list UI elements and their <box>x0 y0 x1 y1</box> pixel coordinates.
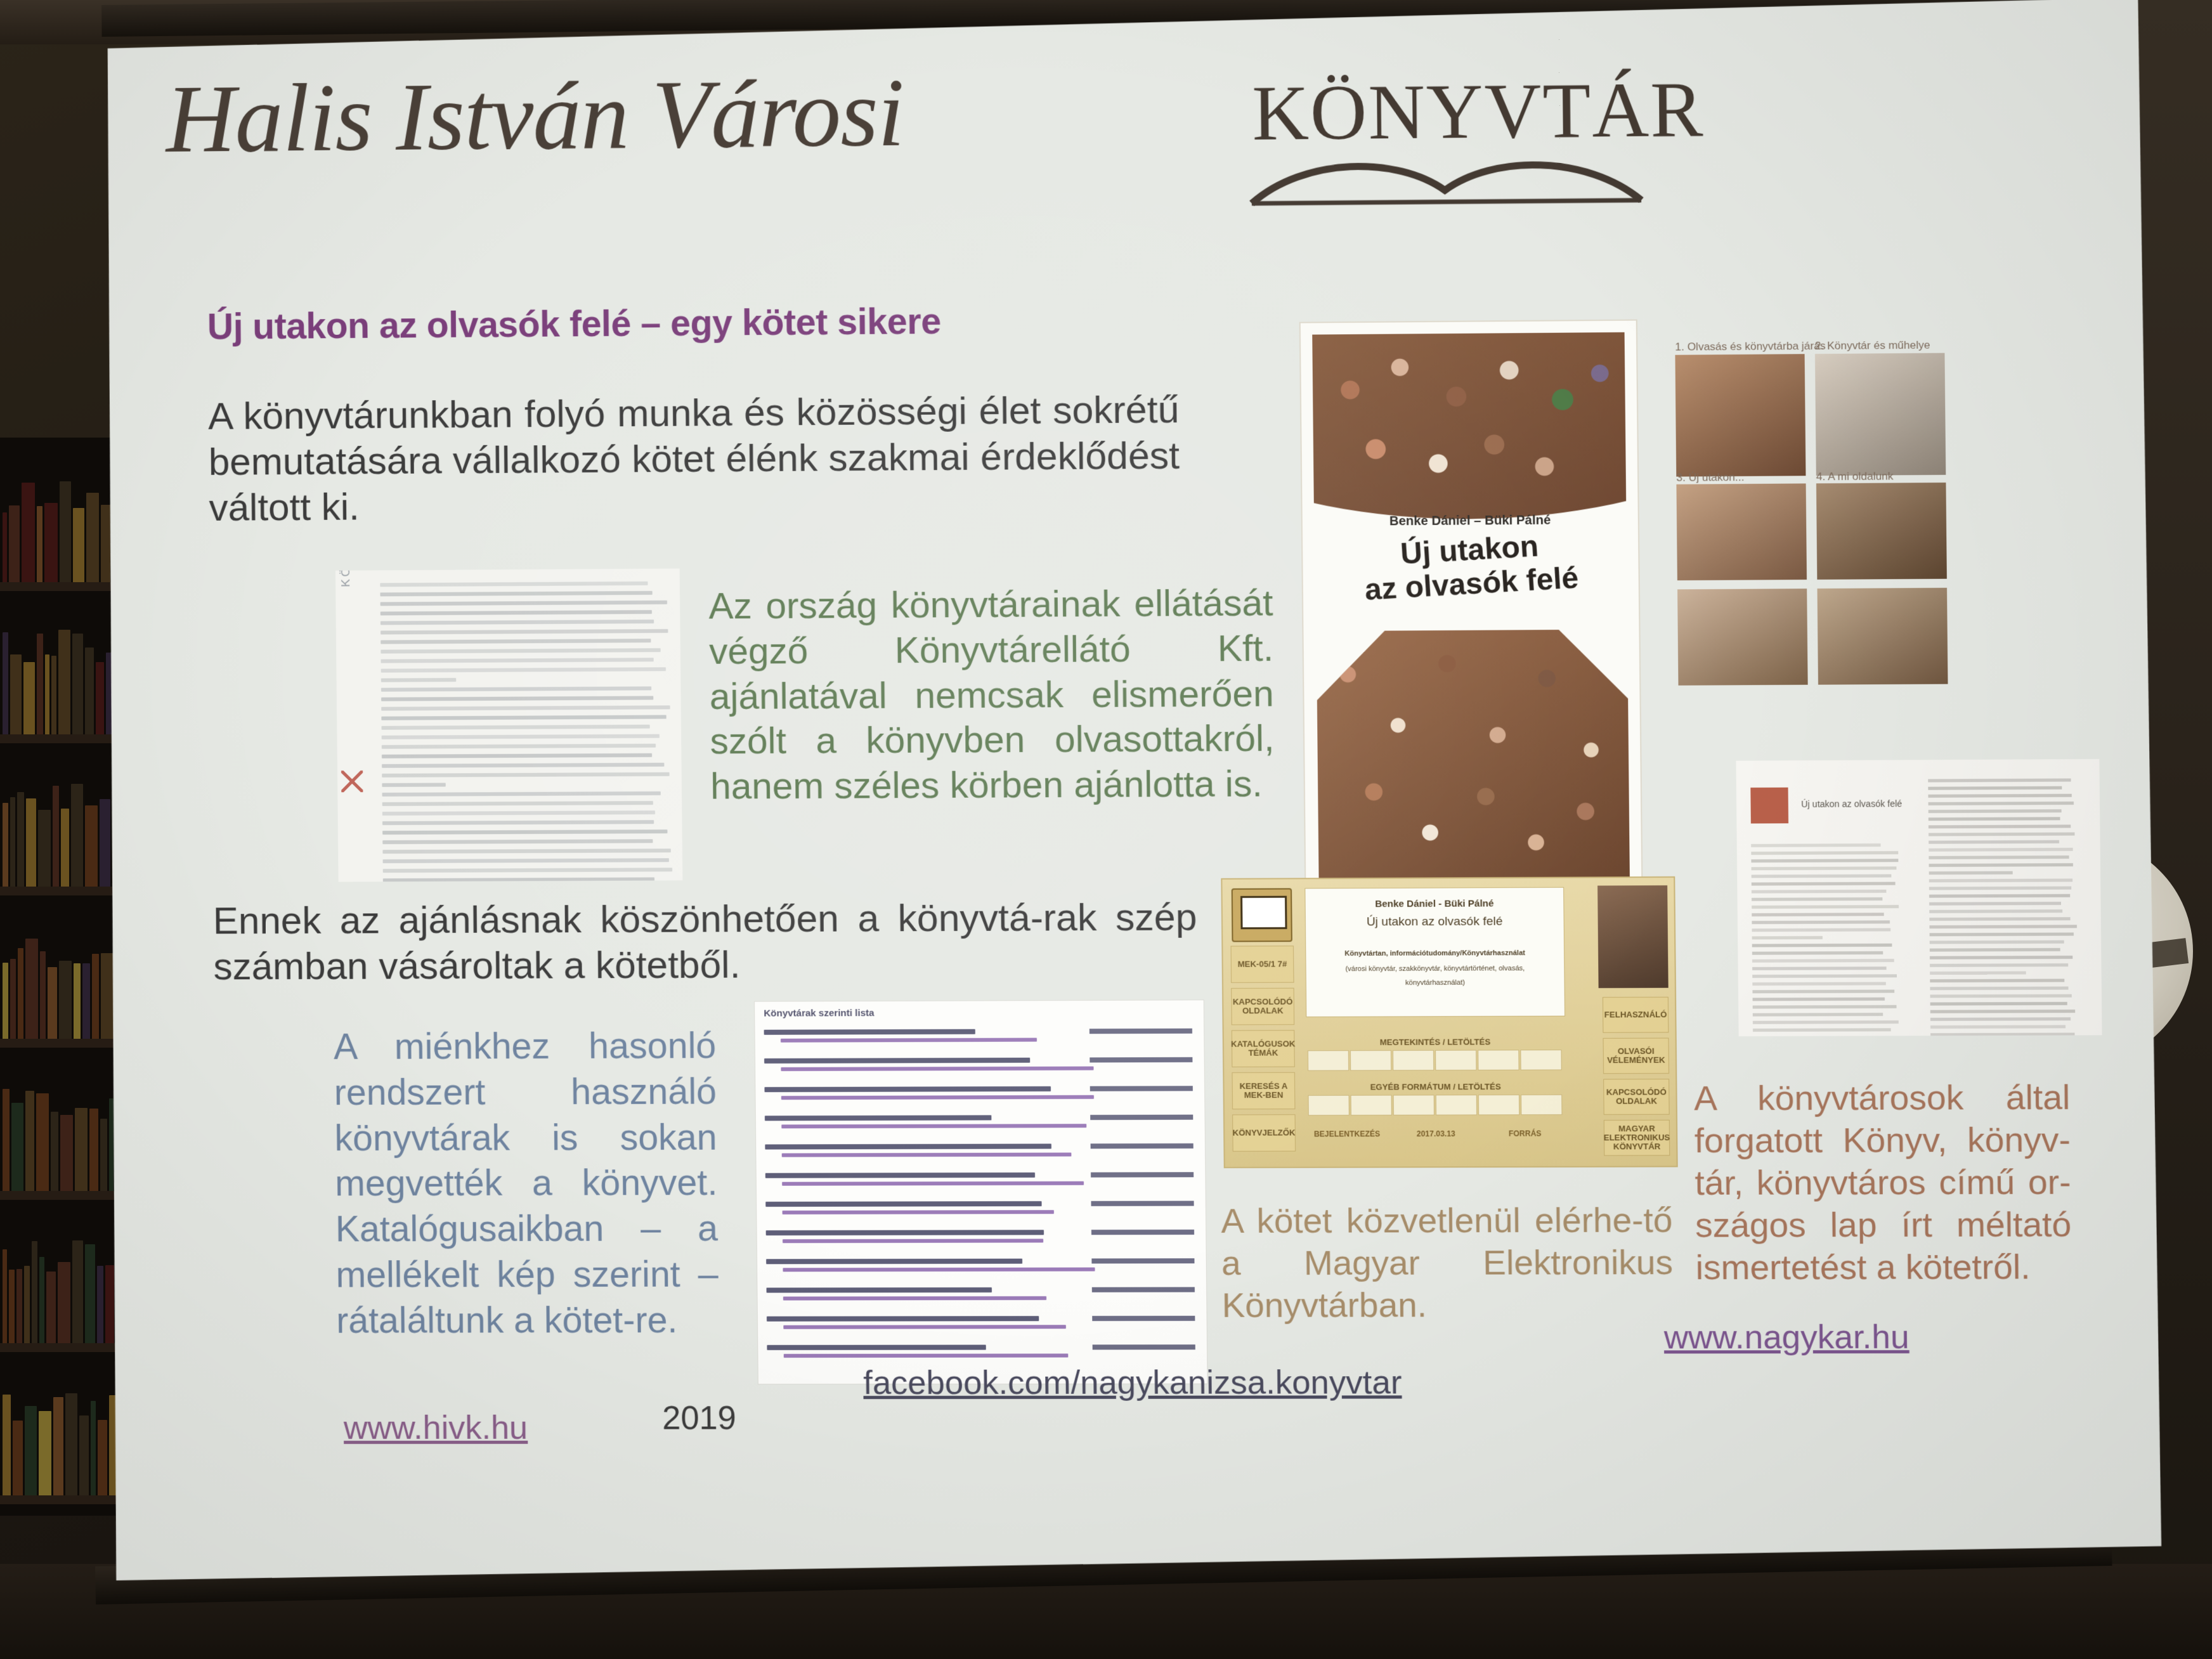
book-cover-image: Benke Dániel – Büki Pálné Új utakon az o… <box>1299 320 1643 894</box>
text-line <box>380 591 652 597</box>
mek-subject-1: Könyvtártan, információtudomány/Könyvtár… <box>1306 949 1564 958</box>
book-spine <box>23 662 35 734</box>
article-text-line <box>1753 1013 1883 1017</box>
mek-nav-button[interactable]: FELHASZNÁLÓ <box>1603 997 1669 1033</box>
article-text-line <box>1929 917 2071 921</box>
article-text-line <box>1752 897 1882 901</box>
book-spine <box>53 1397 63 1495</box>
catalog-row[interactable] <box>766 1230 1197 1243</box>
article-text-line <box>1753 1020 1899 1024</box>
article-text-line <box>1929 840 2059 844</box>
text-line <box>382 829 668 835</box>
book-spine <box>32 1241 38 1343</box>
mek-download-cell[interactable] <box>1521 1095 1562 1115</box>
catalog-entry-link[interactable] <box>783 1210 1055 1214</box>
kello-logo-icon <box>341 771 363 792</box>
article-text-line <box>1929 809 2062 813</box>
paragraph-purchases: Ennek az ajánlásnak köszönhetően a könyv… <box>212 894 1197 989</box>
article-text-line <box>1929 871 2013 875</box>
text-line <box>381 629 668 635</box>
text-line <box>381 715 667 720</box>
catalog-entry-meta <box>1091 1201 1194 1206</box>
article-column-right <box>1928 778 2081 1036</box>
text-line <box>381 658 653 663</box>
paragraph-kello: Az ország könyvtárainak ellátását végző … <box>708 581 1275 809</box>
text-line <box>383 877 654 882</box>
mek-footer-item[interactable]: 2017.03.13 <box>1397 1129 1474 1138</box>
catalog-entry-link[interactable] <box>781 1124 1086 1128</box>
library-wordmark: KÖNYVTÁR <box>1252 65 1705 159</box>
text-line <box>382 810 655 816</box>
article-text-line <box>1752 874 1892 878</box>
catalog-entry-title <box>764 1029 975 1035</box>
book-spine <box>51 1112 58 1191</box>
book-spine <box>45 654 49 734</box>
catalog-entry-title <box>765 1201 1042 1207</box>
text-line <box>382 783 445 786</box>
book-spine <box>74 963 81 1039</box>
mek-download-cell[interactable] <box>1351 1095 1392 1116</box>
catalog-entry-link[interactable] <box>783 1296 1047 1301</box>
mek-download-cell[interactable] <box>1308 1050 1349 1070</box>
book-spine <box>44 503 58 582</box>
mek-subject-3: könyvtárhasználat) <box>1306 979 1565 987</box>
catalog-entry-meta <box>1092 1287 1195 1292</box>
book-spine <box>73 508 85 582</box>
book-spine <box>60 1115 74 1191</box>
catalog-entry-meta <box>1090 1115 1193 1120</box>
presentation-slide: Halis István Városi KÖNYVTÁR Új utakon a… <box>95 0 2166 1587</box>
book-spine <box>3 512 7 582</box>
book-spine <box>98 1420 107 1495</box>
book-spine <box>51 656 56 734</box>
article-text-line <box>1929 887 2071 890</box>
catalog-row[interactable] <box>764 1057 1195 1071</box>
article-text-line <box>1930 987 2068 991</box>
catalog-row[interactable] <box>767 1287 1198 1300</box>
book-spine <box>40 951 46 1039</box>
article-text-line <box>1752 936 1823 939</box>
catalog-row[interactable] <box>767 1316 1198 1329</box>
book-spine <box>22 483 35 582</box>
collage-photo <box>1675 354 1805 476</box>
article-text-line <box>1929 909 2062 913</box>
catalog-row[interactable] <box>765 1172 1197 1186</box>
book-spine <box>10 959 16 1039</box>
catalog-entry-meta <box>1090 1086 1193 1091</box>
catalog-entry-meta <box>1092 1316 1195 1321</box>
catalog-entry-meta <box>1090 1057 1192 1063</box>
article-text-line <box>1751 851 1898 855</box>
article-text-line <box>1752 905 1899 909</box>
journal-article-scan: Új utakon az olvasók felé <box>1736 759 2102 1036</box>
footer-year: 2019 <box>662 1399 736 1437</box>
mek-cover-thumbnail <box>1597 885 1669 988</box>
collage-photo <box>1815 353 1946 476</box>
book-spine <box>39 1411 51 1495</box>
slide-subtitle: Új utakon az olvasók felé – egy kötet si… <box>207 297 1294 348</box>
article-text-line <box>1751 859 1898 862</box>
article-text-line <box>1930 940 2064 944</box>
article-text-line <box>1930 956 2073 960</box>
text-line <box>382 744 656 749</box>
text-line <box>382 801 654 806</box>
book-spine <box>3 1249 7 1343</box>
footer-link-nagykar[interactable]: www.nagykar.hu <box>1664 1318 1909 1356</box>
text-line <box>380 582 647 587</box>
text-line <box>382 820 654 825</box>
catalog-entry-title <box>766 1230 1044 1235</box>
text-line <box>381 620 654 625</box>
paragraph-intro: A könyvtárunkban folyó munka és közösség… <box>208 387 1180 531</box>
catalog-entry-title <box>765 1115 992 1121</box>
mek-download-cell[interactable] <box>1435 1050 1476 1070</box>
text-line <box>381 686 651 691</box>
article-text-line <box>1930 1032 2075 1036</box>
article-text-line <box>1752 944 1892 947</box>
article-text-line <box>1752 990 1894 994</box>
book-spine <box>39 1257 44 1343</box>
catalog-entry-title <box>764 1086 1050 1092</box>
projection-screen: Halis István Városi KÖNYVTÁR Új utakon a… <box>95 0 2166 1594</box>
book-spine <box>82 963 90 1039</box>
article-text-line <box>1929 848 2072 852</box>
mek-book-icon <box>1232 888 1292 942</box>
article-text-line <box>1929 817 2060 821</box>
footer-link-facebook[interactable]: facebook.com/nagykanizsa.konyvtar <box>863 1363 1402 1402</box>
mek-download-cell[interactable] <box>1350 1050 1391 1070</box>
collage-photo <box>1676 483 1807 580</box>
text-line <box>382 849 670 854</box>
text-line <box>381 705 670 710</box>
article-logo-icon <box>1750 788 1788 824</box>
article-text-line <box>1752 920 1889 924</box>
article-text-line <box>1752 966 1887 970</box>
collage-label: 4. A mi oldalunk <box>1816 470 1894 483</box>
article-text-line <box>1930 1002 2067 1006</box>
article-text-line <box>1930 963 2068 967</box>
catalog-entry-link[interactable] <box>781 1067 1093 1071</box>
text-line <box>382 839 653 844</box>
book-spine <box>71 784 83 887</box>
catalog-entry-link[interactable] <box>784 1353 1068 1358</box>
catalog-entry-meta <box>1091 1172 1194 1177</box>
text-line <box>381 678 457 682</box>
catalog-entry-title <box>767 1287 992 1293</box>
catalog-entry-title <box>765 1143 1051 1149</box>
article-text-line <box>1751 843 1880 847</box>
book-spine <box>46 1272 56 1343</box>
catalog-entry-link[interactable] <box>783 1325 1065 1329</box>
collage-label: 2. Könyvtár és műhelye <box>1815 339 1930 353</box>
text-line <box>381 667 666 672</box>
article-text-line <box>1929 824 2071 828</box>
catalog-entry-meta <box>1091 1143 1194 1148</box>
catalog-entry-link[interactable] <box>783 1268 1095 1272</box>
text-line <box>382 753 652 758</box>
text-line <box>381 610 653 615</box>
article-text-line <box>1929 878 2073 882</box>
book-spine <box>58 1262 70 1343</box>
book-spine <box>61 809 69 887</box>
mek-nav-button[interactable]: OLVASÓI VÉLEMÉNYEK <box>1603 1038 1669 1074</box>
article-text-line <box>1930 1010 2075 1013</box>
collage-photo <box>1818 588 1948 685</box>
text-line <box>381 601 667 606</box>
collage-label: 3. Új utakon... <box>1676 471 1744 485</box>
photo-collage: 1. Olvasás és könyvtárba járás2. Könyvtá… <box>1667 335 2072 697</box>
book-spine <box>36 1093 49 1191</box>
open-book-logo <box>1246 150 1646 209</box>
book-spine <box>18 948 23 1039</box>
article-text-line <box>1930 932 2074 936</box>
book-spine <box>58 630 70 734</box>
book-spine <box>92 954 99 1039</box>
book-cover-photo-bottom <box>1317 621 1630 879</box>
text-line <box>381 725 649 730</box>
book-spine <box>65 1393 77 1496</box>
paragraph-catalog: A miénkhez hasonló rendszert használó kö… <box>334 1024 719 1344</box>
book-spine <box>13 1421 23 1495</box>
article-text-line <box>1930 994 2072 998</box>
mek-download-cell[interactable] <box>1478 1050 1519 1070</box>
book-spine <box>24 1266 29 1343</box>
article-text-line <box>1752 866 1897 870</box>
article-text-line <box>1752 959 1894 963</box>
catalog-list-screenshot: Könyvtárak szerinti lista <box>754 999 1208 1384</box>
catalog-entry-title <box>764 1058 1030 1064</box>
catalog-list-header: Könyvtárak szerinti lista <box>764 1008 874 1019</box>
text-line <box>382 734 660 739</box>
article-text-line <box>1929 894 2071 898</box>
kello-body-text <box>380 582 673 882</box>
catalog-row[interactable] <box>765 1143 1196 1157</box>
collage-label: 1. Olvasás és könyvtárba járás <box>1675 340 1825 354</box>
text-line <box>383 858 669 863</box>
mek-website-screenshot: Benke Dániel - Büki Pálné Új utakon az o… <box>1221 876 1677 1168</box>
book-spine <box>59 961 72 1039</box>
book-spine <box>37 634 44 734</box>
text-line <box>381 648 661 653</box>
mek-nav-button[interactable]: KAPCSOLÓDÓ OLDALAK <box>1603 1079 1670 1115</box>
article-column-left <box>1751 843 1903 1036</box>
book-spine <box>86 493 98 582</box>
book-spine <box>85 647 93 734</box>
mek-footer-item[interactable]: BEJELENTKEZÉS <box>1308 1129 1386 1138</box>
article-text-line <box>1753 1028 1890 1032</box>
book-spine <box>38 810 51 887</box>
catalog-entry-title <box>767 1344 986 1350</box>
kello-document-thumbnail: KÖNYVTÁRELLÁTÓ <box>335 568 682 882</box>
mek-download-tables: MEGTEKINTÉS / LETÖLTÉSEGYÉB FORMÁTUM / L… <box>1222 878 1674 880</box>
article-text-line <box>1930 971 2026 975</box>
mek-right-nav: FELHASZNÁLÓOLVASÓI VÉLEMÉNYEKKAPCSOLÓDÓ … <box>1222 878 1674 880</box>
catalog-row[interactable] <box>765 1201 1197 1214</box>
mek-nav-button[interactable]: KATALÓGUSOK TÉMÁK <box>1232 1030 1295 1067</box>
book-spine <box>72 1240 83 1343</box>
mek-download-cell[interactable] <box>1308 1095 1350 1116</box>
book-spine <box>3 1089 10 1191</box>
page-title: Halis István Városi <box>166 57 904 174</box>
book-spine <box>37 506 43 582</box>
catalog-rows <box>755 1000 1204 1001</box>
article-text-line <box>1752 882 1896 886</box>
book-spine <box>25 1406 37 1495</box>
mek-download-cell[interactable] <box>1436 1095 1477 1115</box>
book-spine <box>48 967 57 1039</box>
book-spine <box>53 786 59 887</box>
collage-photo <box>1677 589 1808 686</box>
article-text-line <box>1930 979 2064 982</box>
catalog-entry-title <box>766 1259 1022 1265</box>
catalog-row[interactable] <box>767 1344 1198 1358</box>
article-text-line <box>1930 1025 2066 1029</box>
book-spine <box>72 634 83 734</box>
article-text-line <box>1752 982 1885 986</box>
book-spine <box>89 1109 98 1191</box>
article-text-line <box>1930 1017 2071 1021</box>
catalog-entry-title <box>765 1173 1035 1178</box>
text-line <box>382 791 661 797</box>
paragraph-review: A könyvtárosok által forgatott Könyv, kö… <box>1694 1077 2072 1289</box>
article-text-line <box>1752 951 1883 955</box>
mek-nav-button[interactable]: KÖNYVJELZŐK <box>1232 1114 1296 1152</box>
article-text-line <box>1929 925 2076 928</box>
mek-nav-button[interactable]: MEK-05/1 7# <box>1231 946 1294 983</box>
book-spine <box>97 1266 103 1343</box>
mek-download-cell[interactable] <box>1478 1095 1519 1115</box>
book-spine <box>3 1395 11 1495</box>
article-text-line <box>1928 794 2072 798</box>
book-spine <box>9 1270 14 1343</box>
article-text-line <box>1753 998 1885 1001</box>
book-spine <box>16 1269 23 1343</box>
slide-header: Halis István Városi KÖNYVTÁR <box>166 49 1705 210</box>
paragraph-mek: A kötet közvetlenül elérhe-tő a Magyar E… <box>1221 1200 1674 1327</box>
catalog-row[interactable] <box>765 1115 1196 1129</box>
book-spine <box>10 654 22 734</box>
article-text-line <box>1929 902 2061 906</box>
text-line <box>383 868 672 873</box>
book-spine <box>17 792 24 887</box>
text-line <box>382 763 664 768</box>
mek-footer-item[interactable]: FORRÁS <box>1487 1129 1564 1138</box>
book-spine <box>3 963 8 1039</box>
mek-nav-button[interactable]: KERESÉS A MEK-BEN <box>1232 1072 1295 1110</box>
book-spine <box>26 798 36 887</box>
article-text-line <box>1929 863 2074 867</box>
catalog-row[interactable] <box>764 1086 1195 1100</box>
book-spine <box>25 939 39 1039</box>
text-line <box>382 772 670 777</box>
article-headline: Új utakon az olvasók felé <box>1801 798 1902 809</box>
article-text-line <box>1928 786 2062 790</box>
catalog-entry-link[interactable] <box>781 1038 1037 1043</box>
mek-table-header: EGYÉB FORMÁTUM / LETÖLTÉS <box>1306 1082 1565 1092</box>
mek-table-header: MEGTEKINTÉS / LETÖLTÉS <box>1306 1037 1565 1047</box>
article-text-line <box>1752 913 1883 916</box>
article-text-line <box>1928 778 2071 782</box>
collage-photo <box>1816 483 1947 580</box>
book-spine <box>79 1415 89 1495</box>
book-spine <box>60 481 71 582</box>
book-spine <box>75 1108 88 1191</box>
catalog-entry-link[interactable] <box>781 1095 1094 1100</box>
book-spine <box>91 1401 96 1495</box>
mek-download-cell[interactable] <box>1520 1050 1561 1070</box>
text-line <box>381 639 651 644</box>
catalog-entry-meta <box>1091 1258 1194 1263</box>
catalog-entry-link[interactable] <box>783 1239 1043 1243</box>
kello-vertical-label: KÖNYVTÁRELLÁTÓ <box>337 568 353 587</box>
article-text-line <box>1752 890 1886 894</box>
article-text-line <box>1929 856 2069 859</box>
article-text-line <box>1752 928 1890 932</box>
book-cover-photo-top <box>1312 332 1626 520</box>
library-wordmark-text: KÖNYVTÁR <box>1252 67 1705 157</box>
room-scene: Halis István Városi KÖNYVTÁR Új utakon a… <box>0 0 2212 1659</box>
book-spine <box>11 1103 24 1191</box>
book-spine <box>25 1091 34 1191</box>
book-spine <box>85 805 98 887</box>
book-spine <box>3 632 8 734</box>
book-spine <box>85 1244 95 1343</box>
mek-download-cell[interactable] <box>1393 1050 1434 1070</box>
mek-title: Új utakon az olvasók felé <box>1306 914 1564 930</box>
catalog-entry-meta <box>1090 1029 1192 1034</box>
mek-subject-2: (városi könyvtár, szakkönyvtár, könyvtár… <box>1306 965 1565 973</box>
text-line <box>381 696 654 701</box>
mek-nav-button[interactable]: KAPCSOLÓDÓ OLDALAK <box>1231 988 1294 1025</box>
mek-nav-button[interactable]: MAGYAR ELEKTRONIKUS KÖNYVTÁR <box>1604 1120 1670 1156</box>
catalog-row[interactable] <box>766 1258 1197 1272</box>
catalog-entry-meta <box>1093 1344 1195 1350</box>
catalog-entry-title <box>767 1316 1039 1322</box>
footer-link-hivk[interactable]: www.hivk.hu <box>344 1409 528 1447</box>
book-spine <box>3 803 8 887</box>
article-text-line <box>1930 948 2060 952</box>
article-text-line <box>1929 802 2074 805</box>
catalog-entry-link[interactable] <box>782 1152 1072 1157</box>
book-cover-title: Új utakon az olvasók felé <box>1301 523 1641 610</box>
mek-left-nav: MEK-05/1 7#KAPCSOLÓDÓ OLDALAKKATALÓGUSOK… <box>1222 878 1674 880</box>
article-text-line <box>1929 832 2074 836</box>
catalog-row[interactable] <box>764 1029 1195 1043</box>
mek-authors: Benke Dániel - Büki Pálné <box>1306 898 1564 910</box>
book-spine <box>9 505 20 582</box>
catalog-entry-link[interactable] <box>782 1181 1084 1186</box>
catalog-entry-meta <box>1091 1230 1194 1235</box>
article-text-line <box>1752 974 1897 978</box>
mek-download-cell[interactable] <box>1393 1095 1435 1115</box>
book-spine <box>10 797 16 887</box>
article-text-line <box>1753 1005 1897 1009</box>
mek-info-panel: Benke Dániel - Büki Pálné Új utakon az o… <box>1304 887 1565 1017</box>
